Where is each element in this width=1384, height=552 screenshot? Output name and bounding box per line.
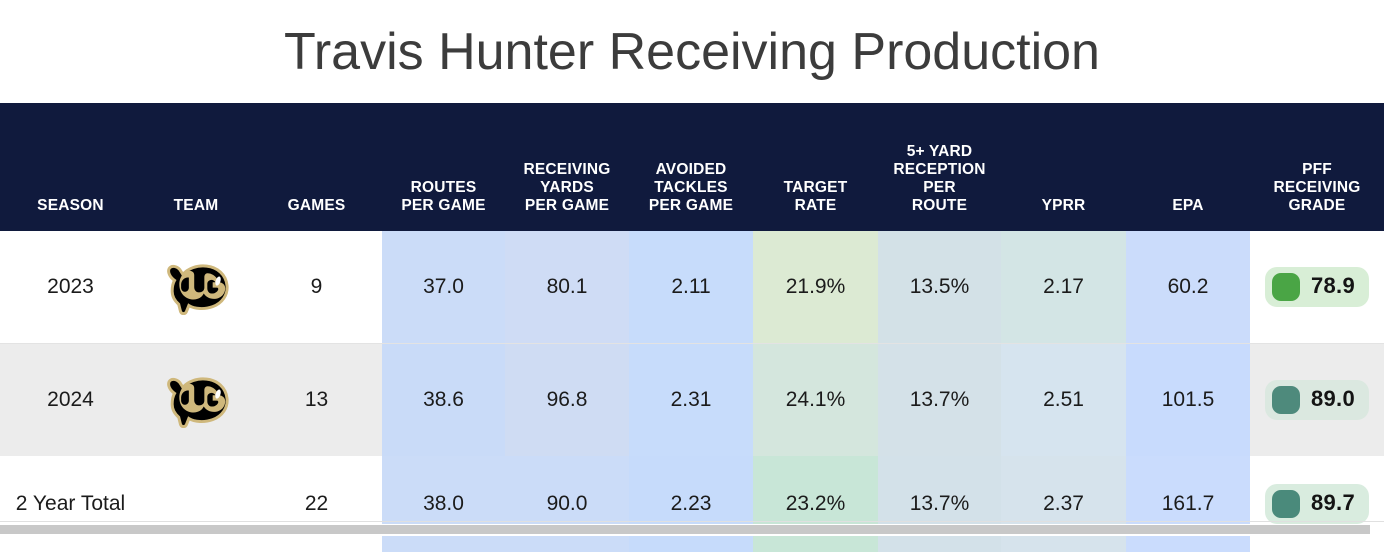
cell-season: 2023	[0, 231, 141, 344]
cell-target-rate: 23.2%	[753, 456, 878, 552]
grade-value: 78.9	[1311, 273, 1355, 300]
cell-pff-receiving-grade: 89.0	[1250, 344, 1384, 457]
cell-pff-receiving-grade: 89.7	[1250, 456, 1384, 552]
cell-target-rate: 24.1%	[753, 344, 878, 457]
grade-value: 89.7	[1311, 490, 1355, 517]
column-header-games[interactable]: GAMES	[251, 103, 382, 231]
column-header-five-plus-yard-reception-per-route[interactable]: 5+ YARD RECEPTION PER ROUTE	[878, 103, 1001, 231]
cell-routes-per-game: 38.0	[382, 456, 505, 552]
cell-yprr: 2.17	[1001, 231, 1126, 344]
table-bottom-divider	[0, 521, 1384, 522]
grade-color-chip	[1272, 273, 1300, 301]
cell-five-plus-yard-reception-per-route: 13.7%	[878, 344, 1001, 457]
cell-season: 2 Year Total	[0, 456, 141, 552]
stats-table: SEASON TEAM GAMES ROUTES PER GAME RECEIV…	[0, 103, 1384, 552]
page-title: Travis Hunter Receiving Production	[0, 0, 1384, 103]
cell-pff-receiving-grade: 78.9	[1250, 231, 1384, 344]
grade-color-chip	[1272, 490, 1300, 518]
table-row: 2 Year Total 22 38.0 90.0 2.23 23.2% 13.…	[0, 456, 1384, 552]
cell-avoided-tackles-per-game: 2.31	[629, 344, 753, 457]
status-badge: 89.0	[1265, 380, 1369, 420]
cell-receiving-yards-per-game: 80.1	[505, 231, 629, 344]
cell-epa: 101.5	[1126, 344, 1250, 457]
cell-receiving-yards-per-game: 96.8	[505, 344, 629, 457]
cell-five-plus-yard-reception-per-route: 13.7%	[878, 456, 1001, 552]
cell-epa: 161.7	[1126, 456, 1250, 552]
cell-season: 2024	[0, 344, 141, 457]
status-badge: 78.9	[1265, 267, 1369, 307]
table-row: 2023 9 37.0	[0, 231, 1384, 344]
cell-routes-per-game: 37.0	[382, 231, 505, 344]
cell-epa: 60.2	[1126, 231, 1250, 344]
cell-games: 13	[251, 344, 382, 457]
horizontal-scrollbar-thumb[interactable]	[0, 525, 1370, 534]
stats-table-page: Travis Hunter Receiving Production SEASO…	[0, 0, 1384, 536]
column-header-epa[interactable]: EPA	[1126, 103, 1250, 231]
column-header-target-rate[interactable]: TARGET RATE	[753, 103, 878, 231]
column-header-season[interactable]: SEASON	[0, 103, 141, 231]
season-label: 2 Year Total	[16, 491, 125, 518]
cell-avoided-tackles-per-game: 2.11	[629, 231, 753, 344]
cell-yprr: 2.37	[1001, 456, 1126, 552]
stats-table-container: SEASON TEAM GAMES ROUTES PER GAME RECEIV…	[0, 103, 1384, 552]
cell-target-rate: 21.9%	[753, 231, 878, 344]
column-header-team[interactable]: TEAM	[141, 103, 251, 231]
cell-yprr: 2.51	[1001, 344, 1126, 457]
status-badge: 89.7	[1265, 484, 1369, 524]
cell-routes-per-game: 38.6	[382, 344, 505, 457]
column-header-routes-per-game[interactable]: ROUTES PER GAME	[382, 103, 505, 231]
cell-receiving-yards-per-game: 90.0	[505, 456, 629, 552]
column-header-pff-receiving-grade[interactable]: PFF RECEIVING GRADE	[1250, 103, 1384, 231]
column-header-receiving-yards-per-game[interactable]: RECEIVING YARDS PER GAME	[505, 103, 629, 231]
cell-team	[141, 456, 251, 552]
cell-team	[141, 344, 251, 457]
colorado-buffaloes-logo-icon	[160, 259, 232, 315]
cell-team	[141, 231, 251, 344]
colorado-buffaloes-logo-icon	[160, 372, 232, 428]
table-header: SEASON TEAM GAMES ROUTES PER GAME RECEIV…	[0, 103, 1384, 231]
table-header-row: SEASON TEAM GAMES ROUTES PER GAME RECEIV…	[0, 103, 1384, 231]
column-header-yprr[interactable]: YPRR	[1001, 103, 1126, 231]
grade-value: 89.0	[1311, 386, 1355, 413]
table-body: 2023 9 37.0	[0, 231, 1384, 552]
cell-games: 9	[251, 231, 382, 344]
table-row: 2024 13 38.6	[0, 344, 1384, 457]
grade-color-chip	[1272, 386, 1300, 414]
cell-games: 22	[251, 456, 382, 552]
cell-five-plus-yard-reception-per-route: 13.5%	[878, 231, 1001, 344]
horizontal-scrollbar[interactable]	[0, 524, 1384, 536]
column-header-avoided-tackles-per-game[interactable]: AVOIDED TACKLES PER GAME	[629, 103, 753, 231]
cell-avoided-tackles-per-game: 2.23	[629, 456, 753, 552]
